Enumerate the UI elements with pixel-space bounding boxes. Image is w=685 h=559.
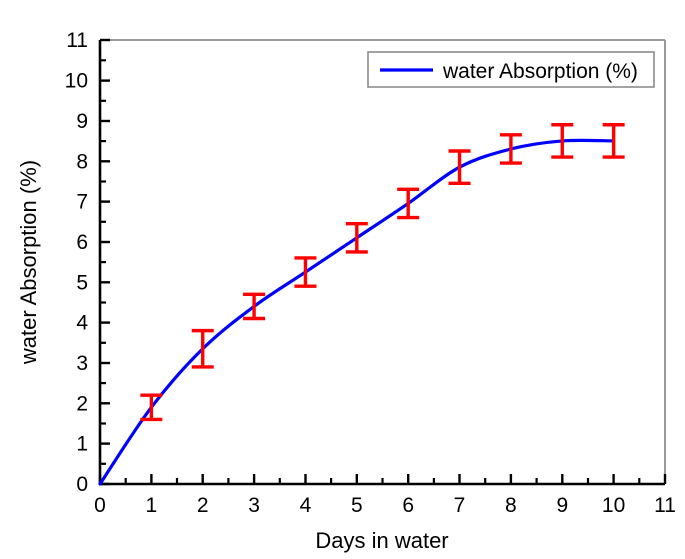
- y-tick-label: 10: [65, 70, 88, 93]
- y-tick-label: 0: [76, 473, 88, 496]
- y-tick-label: 3: [76, 352, 88, 375]
- x-tick-label: 9: [556, 494, 568, 517]
- x-tick-label: 1: [146, 494, 158, 517]
- y-tick-label: 11: [66, 29, 88, 52]
- y-tick-label: 5: [76, 271, 88, 294]
- x-tick-label: 8: [505, 494, 517, 517]
- y-tick-label: 4: [76, 312, 88, 335]
- y-tick-label: 2: [76, 392, 88, 415]
- x-tick-label: 3: [248, 494, 260, 517]
- y-tick-label: 6: [76, 231, 88, 254]
- x-axis-title: Days in water: [315, 528, 448, 553]
- x-tick-label: 10: [602, 494, 625, 517]
- x-tick-label: 0: [94, 494, 106, 517]
- x-tick-label: 11: [654, 494, 676, 517]
- x-tick-label: 2: [197, 494, 209, 517]
- x-tick-label: 4: [300, 494, 312, 517]
- x-tick-label: 6: [402, 494, 414, 517]
- y-tick-label: 7: [76, 191, 88, 214]
- line-chart: 0 1 2 3 4 5 6 7 8 9 10 11 0 1 2 3 4 5 6 …: [0, 0, 685, 559]
- x-tick-label: 7: [454, 494, 466, 517]
- x-tick-label: 5: [351, 494, 363, 517]
- legend[interactable]: water Absorption (%): [368, 52, 654, 87]
- y-axis-title: water Absorption (%): [16, 160, 41, 365]
- y-tick-label: 9: [76, 110, 88, 133]
- y-tick-label: 1: [76, 433, 88, 456]
- legend-label: water Absorption (%): [442, 60, 638, 83]
- chart-page: 0 1 2 3 4 5 6 7 8 9 10 11 0 1 2 3 4 5 6 …: [0, 0, 685, 559]
- y-tick-label: 8: [76, 150, 88, 173]
